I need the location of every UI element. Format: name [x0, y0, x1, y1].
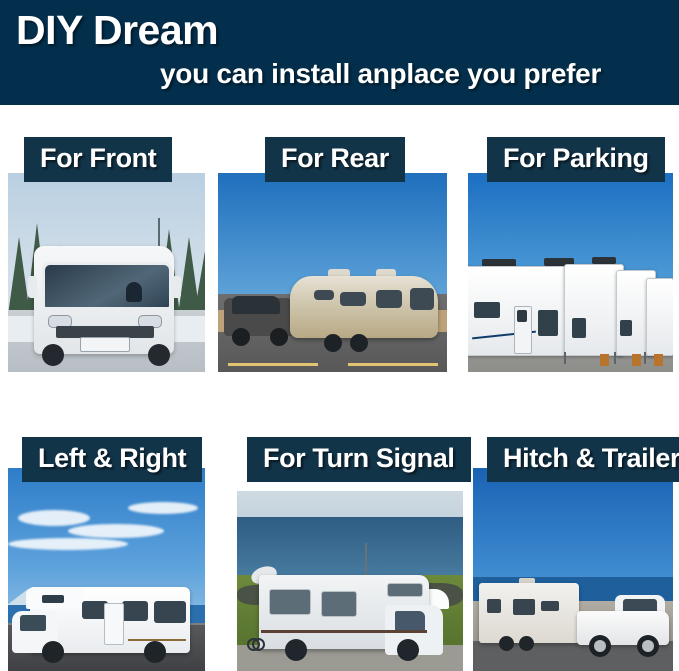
side-window-1: [269, 589, 311, 615]
folding-chair-1: [600, 354, 609, 366]
trailer-roof-ac-3: [592, 257, 616, 264]
overcab-window: [42, 595, 64, 603]
trailer-panel-dark: [538, 310, 558, 336]
page-title: DIY Dream: [16, 8, 218, 53]
header-banner: DIY Dream you can install anplace you pr…: [0, 0, 679, 105]
suv-wheel-front: [232, 328, 250, 346]
page-subtitle: you can install anplace you prefer: [160, 58, 601, 90]
side-window-3: [154, 601, 186, 623]
trailer-window-side: [474, 302, 500, 318]
panel-left-and-right: [8, 468, 205, 671]
entry-door: [104, 603, 124, 645]
trailer-window-3: [376, 290, 402, 308]
trailer-window-1: [314, 290, 334, 300]
wheel-left: [42, 344, 64, 366]
side-window-2: [321, 591, 357, 617]
trailer-4: [646, 278, 673, 356]
wheel-rear: [285, 639, 307, 661]
trailer-window-1: [487, 599, 501, 613]
truck-wheel-front: [637, 635, 659, 657]
antenna-pole: [365, 543, 367, 579]
badge-for-rear: For Rear: [265, 137, 405, 182]
trailer-wheel-rear: [350, 334, 368, 352]
luton-window: [387, 583, 423, 597]
wheel-right: [148, 344, 170, 366]
stabilizer-jack-3: [644, 352, 646, 364]
driver-figure: [126, 282, 142, 302]
tow-suv-window: [232, 296, 280, 314]
trailer-window-3: [620, 320, 632, 336]
trailer-rear-window: [410, 288, 434, 310]
truck-wheel-rear: [589, 635, 611, 657]
badge-for-front: For Front: [24, 137, 172, 182]
mirror-left: [28, 276, 37, 298]
cloud-4: [8, 538, 128, 550]
panel-hitch-and-trailer: [473, 468, 673, 671]
badge-for-turn-signal: For Turn Signal: [247, 437, 471, 482]
cloud-1: [18, 510, 90, 526]
panel-for-parking: [468, 173, 673, 372]
trailer-window-2: [513, 599, 535, 615]
trailer-window-2: [340, 292, 366, 306]
trailer-wheel-front: [499, 636, 514, 651]
panel-for-turn-signal: [237, 491, 463, 671]
stabilizer-jack-2: [614, 352, 616, 364]
wheel-rear: [144, 641, 166, 663]
lot-stripe-2: [348, 363, 438, 366]
trailer-window-3: [541, 601, 559, 611]
trailer-wheel-front: [324, 334, 342, 352]
trailer-2: [564, 264, 624, 356]
panel-for-front: [8, 173, 205, 372]
wheel-front: [397, 639, 419, 661]
mirror-right: [172, 276, 181, 298]
cab-window: [20, 615, 46, 631]
trailer-window-2: [572, 318, 586, 338]
cab-window: [395, 611, 425, 631]
windshield: [42, 262, 172, 310]
cloud-3: [128, 502, 198, 514]
badge-left-and-right: Left & Right: [22, 437, 202, 482]
badge-for-parking: For Parking: [487, 137, 665, 182]
trailer-door-window: [517, 310, 527, 322]
side-window-2: [122, 601, 148, 621]
body-stripe: [261, 630, 427, 633]
license-plate: [80, 337, 130, 352]
lot-stripe-1: [228, 363, 318, 366]
badge-hitch-and-trailer: Hitch & Trailer: [487, 437, 679, 482]
trailer-wheel-rear: [519, 636, 534, 651]
bicycle: [247, 629, 265, 651]
suv-wheel-rear: [270, 328, 288, 346]
stabilizer-jack-1: [564, 352, 566, 364]
folding-chair-2: [632, 354, 641, 366]
cloud-2: [68, 524, 164, 538]
folding-chair-3: [654, 354, 663, 366]
rv-antenna: [158, 218, 160, 248]
panel-for-rear: [218, 173, 447, 372]
wheel-front: [42, 641, 64, 663]
